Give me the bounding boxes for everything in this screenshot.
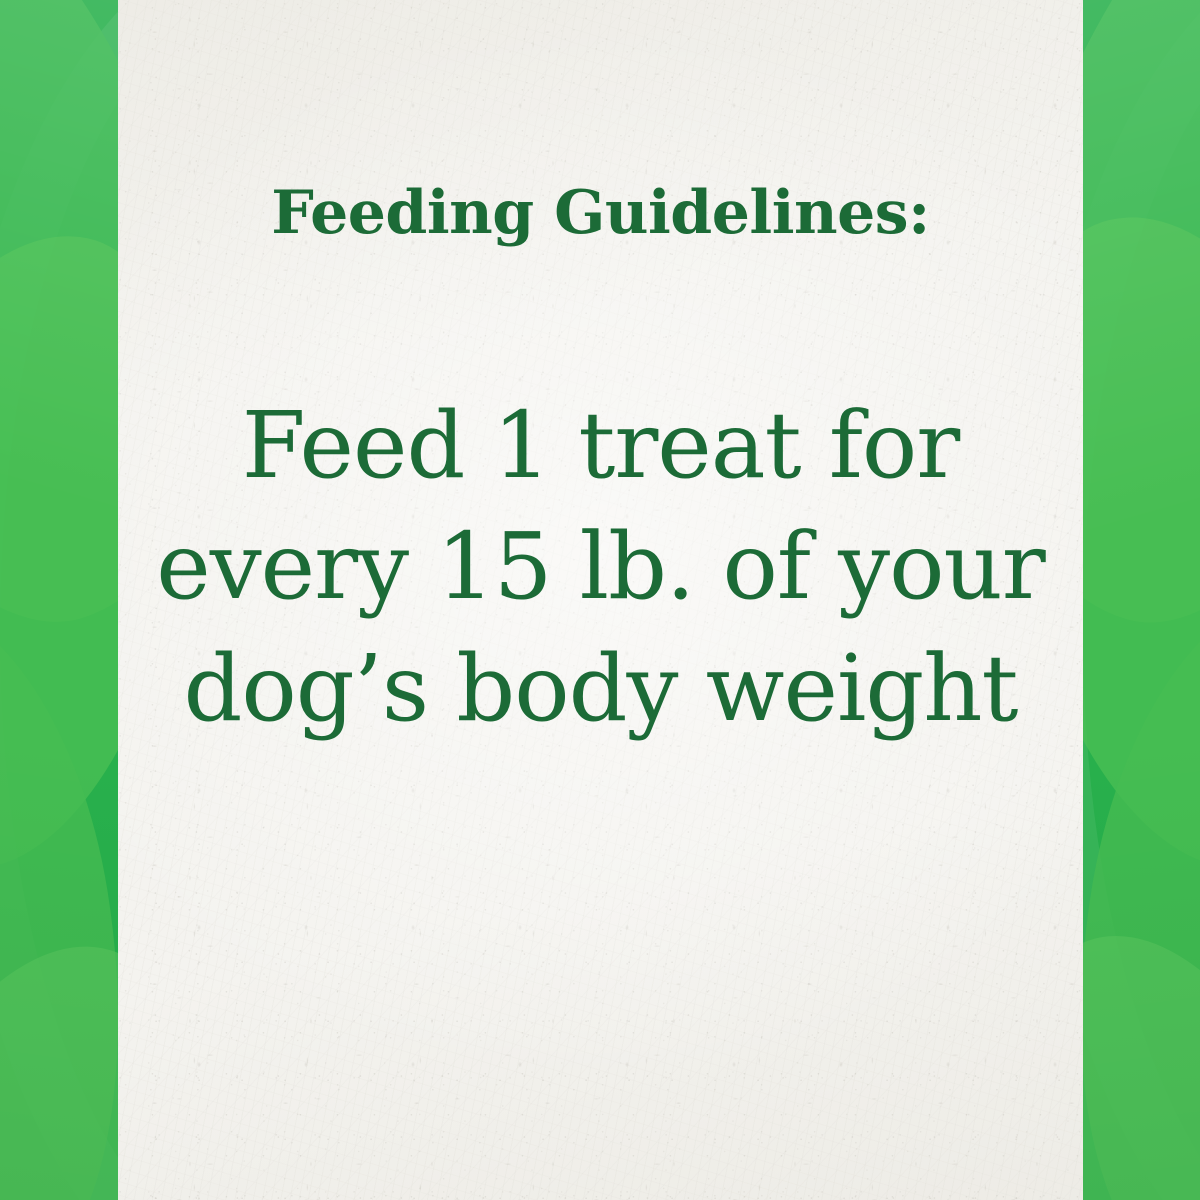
content-area: Feeding Guidelines: Feed 1 treat for eve… — [118, 0, 1083, 1200]
instruction-line-2: every 15 lb. of your — [118, 506, 1083, 627]
leaf-pattern-left — [0, 0, 118, 1200]
feeding-guidelines-heading: Feeding Guidelines: — [118, 182, 1083, 244]
instruction-line-3: dog’s body weight — [118, 628, 1083, 749]
instruction-line-1: Feed 1 treat for — [118, 385, 1083, 506]
leaf-pattern-right — [1083, 0, 1200, 1200]
band-gradient-overlay — [0, 0, 118, 1200]
band-gradient-overlay — [1083, 0, 1200, 1200]
feeding-instruction-text: Feed 1 treat for every 15 lb. of your do… — [118, 385, 1083, 749]
feeding-guidelines-panel: Feeding Guidelines: Feed 1 treat for eve… — [0, 0, 1200, 1200]
